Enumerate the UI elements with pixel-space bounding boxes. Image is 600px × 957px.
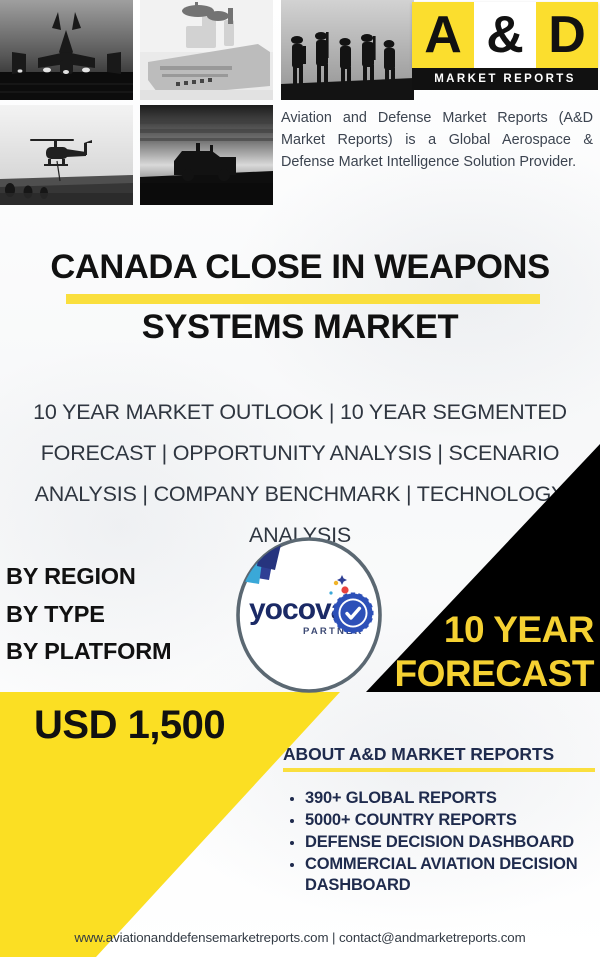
- about-bullet-defense-dashboard: DEFENSE DECISION DASHBOARD: [305, 832, 595, 853]
- soldiers-silhouette-photo: [281, 0, 414, 100]
- page-title-line-2: SYSTEMS MARKET: [0, 307, 600, 347]
- title-accent-rule: [66, 294, 540, 304]
- segmentation-list: BY REGION BY TYPE BY PLATFORM: [6, 558, 171, 671]
- page-title-line-1: CANADA CLOSE IN WEAPONS: [0, 247, 600, 287]
- report-scope-subtitle: 10 YEAR MARKET OUTLOOK | 10 YEAR SEGMENT…: [28, 392, 572, 556]
- about-bullet-country-reports: 5000+ COUNTRY REPORTS: [305, 810, 595, 831]
- about-bullet-global-reports: 390+ GLOBAL REPORTS: [305, 788, 595, 809]
- logo-ampersand: &: [474, 2, 536, 68]
- price-label: USD 1,500: [34, 700, 225, 750]
- about-accent-rule: [283, 768, 595, 772]
- logo-tagline: MARKET REPORTS: [412, 68, 598, 90]
- about-heading: ABOUT A&D MARKET REPORTS: [283, 744, 595, 765]
- company-intro-paragraph: Aviation and Defense Market Reports (A&D…: [281, 107, 593, 173]
- segmentation-item-platform: BY PLATFORM: [6, 633, 171, 671]
- ad-market-reports-logo: A & D MARKET REPORTS: [412, 2, 598, 94]
- yocova-partner-badge: yocova PARTNER: [235, 536, 383, 694]
- logo-letters: A & D: [412, 2, 598, 68]
- logo-letter-d: D: [536, 2, 598, 68]
- report-cover-poster: A & D MARKET REPORTS Aviation and Defens…: [0, 0, 600, 957]
- naval-warship-photo: [140, 0, 273, 100]
- svg-text:yocova: yocova: [249, 593, 348, 626]
- verified-check-seal: [333, 593, 374, 634]
- armored-vehicle-photo: [140, 105, 273, 205]
- logo-letter-a: A: [412, 2, 474, 68]
- segmentation-item-region: BY REGION: [6, 558, 171, 596]
- segmentation-item-type: BY TYPE: [6, 596, 171, 634]
- about-section: ABOUT A&D MARKET REPORTS 390+ GLOBAL REP…: [283, 744, 595, 897]
- helicopter-photo: [0, 105, 133, 205]
- fighter-jet-photo: [0, 0, 133, 100]
- about-bullet-commercial-dashboard: COMMERCIAL AVIATION DECISION DASHBOARD: [305, 854, 595, 896]
- about-bullet-list: 390+ GLOBAL REPORTS 5000+ COUNTRY REPORT…: [283, 788, 595, 896]
- footer-contact: www.aviationanddefensemarketreports.com …: [0, 930, 600, 945]
